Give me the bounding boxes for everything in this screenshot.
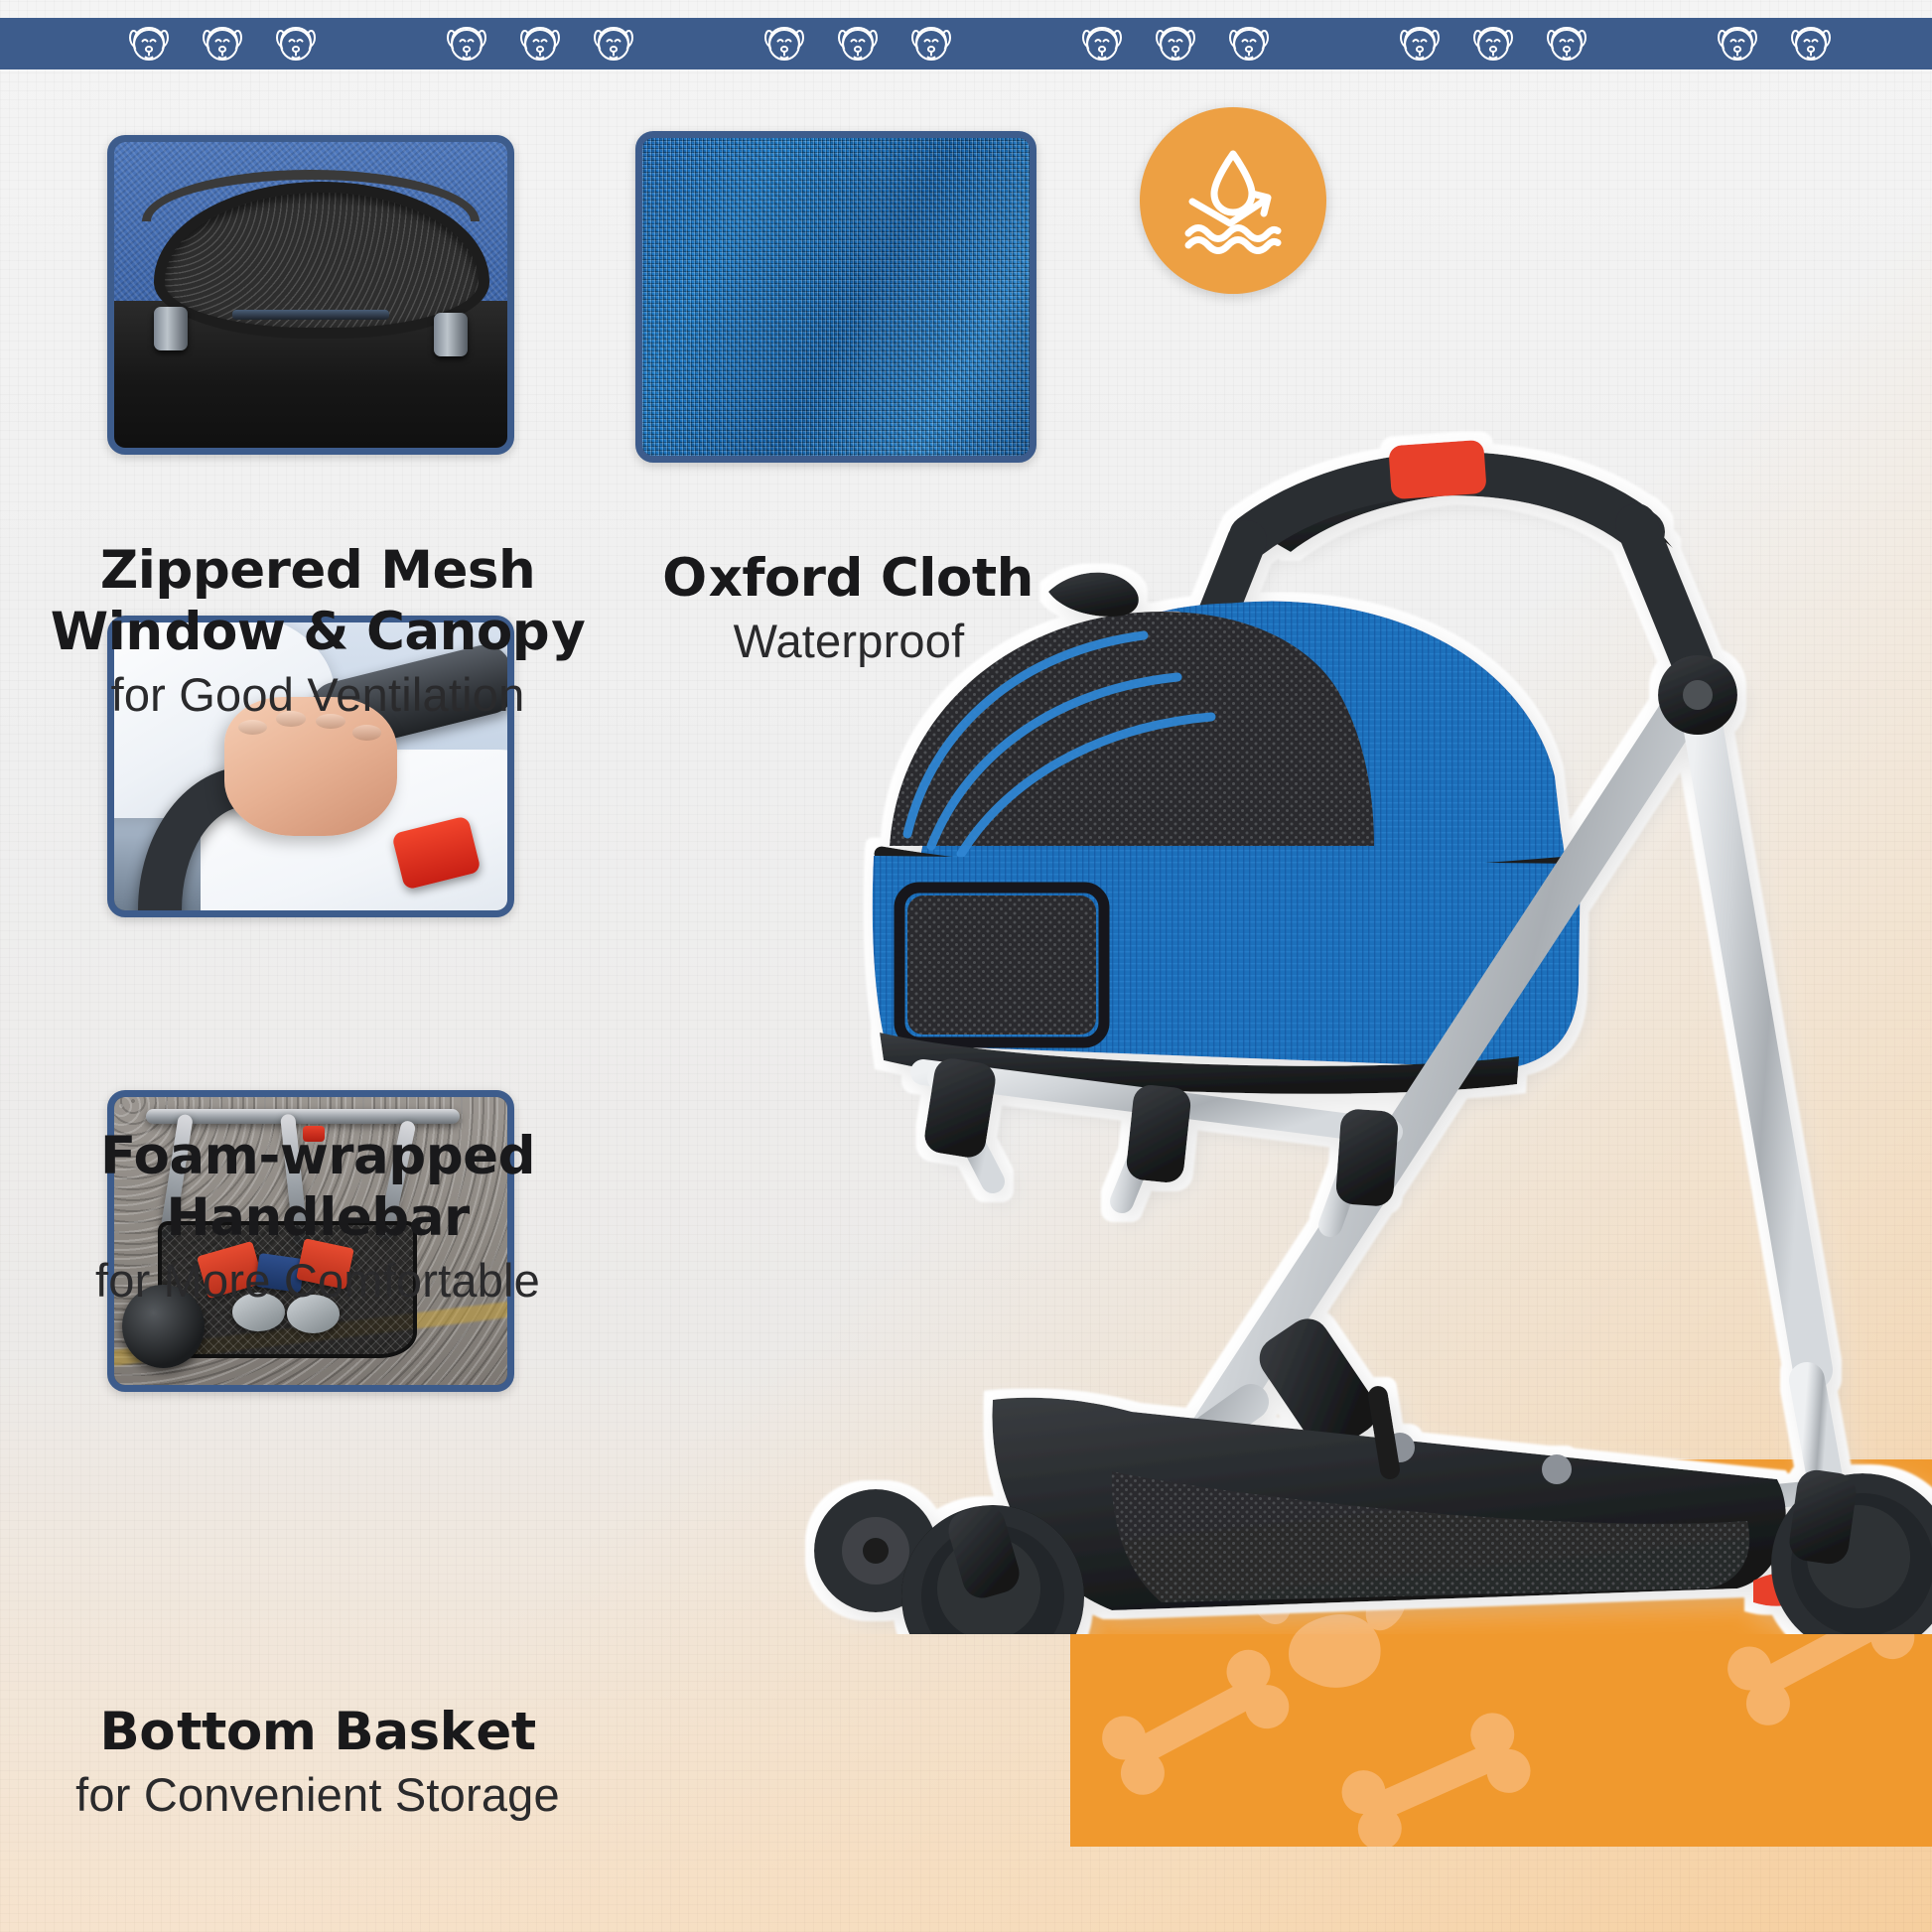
bone-shape xyxy=(1094,1642,1297,1802)
dog-face-icon xyxy=(1789,24,1833,64)
basket-snap xyxy=(1542,1454,1572,1484)
infographic-canvas: Zippered Mesh Window & Canopy for Good V… xyxy=(0,0,1932,1932)
dog-face-icon xyxy=(201,24,244,64)
bone-shape xyxy=(1334,1706,1537,1847)
dog-face-icon xyxy=(1080,24,1124,64)
feature-subtitle: Waterproof xyxy=(650,618,1047,664)
dog-face-icon xyxy=(1398,24,1442,64)
dog-icon-group xyxy=(1398,24,1588,64)
dog-face-icon xyxy=(127,24,171,64)
feature-subtitle: for Convenient Storage xyxy=(20,1771,616,1818)
basket-strap xyxy=(1378,1396,1390,1469)
dog-face-icon xyxy=(1227,24,1271,64)
frame-joint xyxy=(1335,1108,1400,1207)
zippered-mesh-window-photo xyxy=(107,135,514,455)
dog-icon-group xyxy=(1716,24,1833,64)
dog-face-icon xyxy=(762,24,806,64)
feature-title-line2: Handlebar xyxy=(20,1191,616,1244)
dog-face-icon xyxy=(1716,24,1759,64)
feature-subtitle: for More Comfortable xyxy=(20,1257,616,1304)
dog-icon-group xyxy=(445,24,635,64)
waterproof-badge xyxy=(1140,107,1326,294)
canopy-top-strap xyxy=(1048,573,1139,617)
feature-title-line1: Oxford Cloth xyxy=(650,552,1047,605)
feature-text-foam-handlebar: Foam-wrapped Handlebar for More Comforta… xyxy=(20,1130,616,1304)
dog-face-icon xyxy=(1545,24,1588,64)
feature-text-zippered-mesh: Zippered Mesh Window & Canopy for Good V… xyxy=(20,544,616,718)
frame-front-upright xyxy=(1698,695,1813,1370)
dog-face-icon xyxy=(836,24,880,64)
feature-subtitle: for Good Ventilation xyxy=(20,671,616,718)
dog-icon-group xyxy=(762,24,953,64)
dog-pattern-banner xyxy=(0,18,1932,69)
dog-icon-group xyxy=(1080,24,1271,64)
frame-joint xyxy=(1125,1083,1192,1184)
dog-icon-group xyxy=(127,24,318,64)
mount-knob-left xyxy=(154,307,188,350)
dog-face-icon xyxy=(445,24,488,64)
dog-face-icon xyxy=(592,24,635,64)
feature-title-line1: Zippered Mesh xyxy=(20,544,616,597)
frame-bar xyxy=(232,310,389,320)
feature-title-line1: Foam-wrapped xyxy=(20,1130,616,1182)
mount-knob-right xyxy=(434,313,468,356)
feature-title-line2: Window & Canopy xyxy=(20,606,616,658)
dog-face-icon xyxy=(909,24,953,64)
water-drop-repellent-icon xyxy=(1174,142,1292,259)
feature-title-line1: Bottom Basket xyxy=(20,1706,616,1758)
feature-text-bottom-basket: Bottom Basket for Convenient Storage xyxy=(20,1706,616,1818)
dog-face-icon xyxy=(518,24,562,64)
dog-face-icon xyxy=(1154,24,1197,64)
frame-top-bar xyxy=(146,1109,461,1124)
handle-release-button xyxy=(1388,440,1487,500)
side-mesh-pocket xyxy=(907,896,1096,1035)
feature-text-oxford-cloth: Oxford Cloth Waterproof xyxy=(650,552,1047,664)
dog-face-icon xyxy=(1471,24,1515,64)
dog-face-icon xyxy=(274,24,318,64)
